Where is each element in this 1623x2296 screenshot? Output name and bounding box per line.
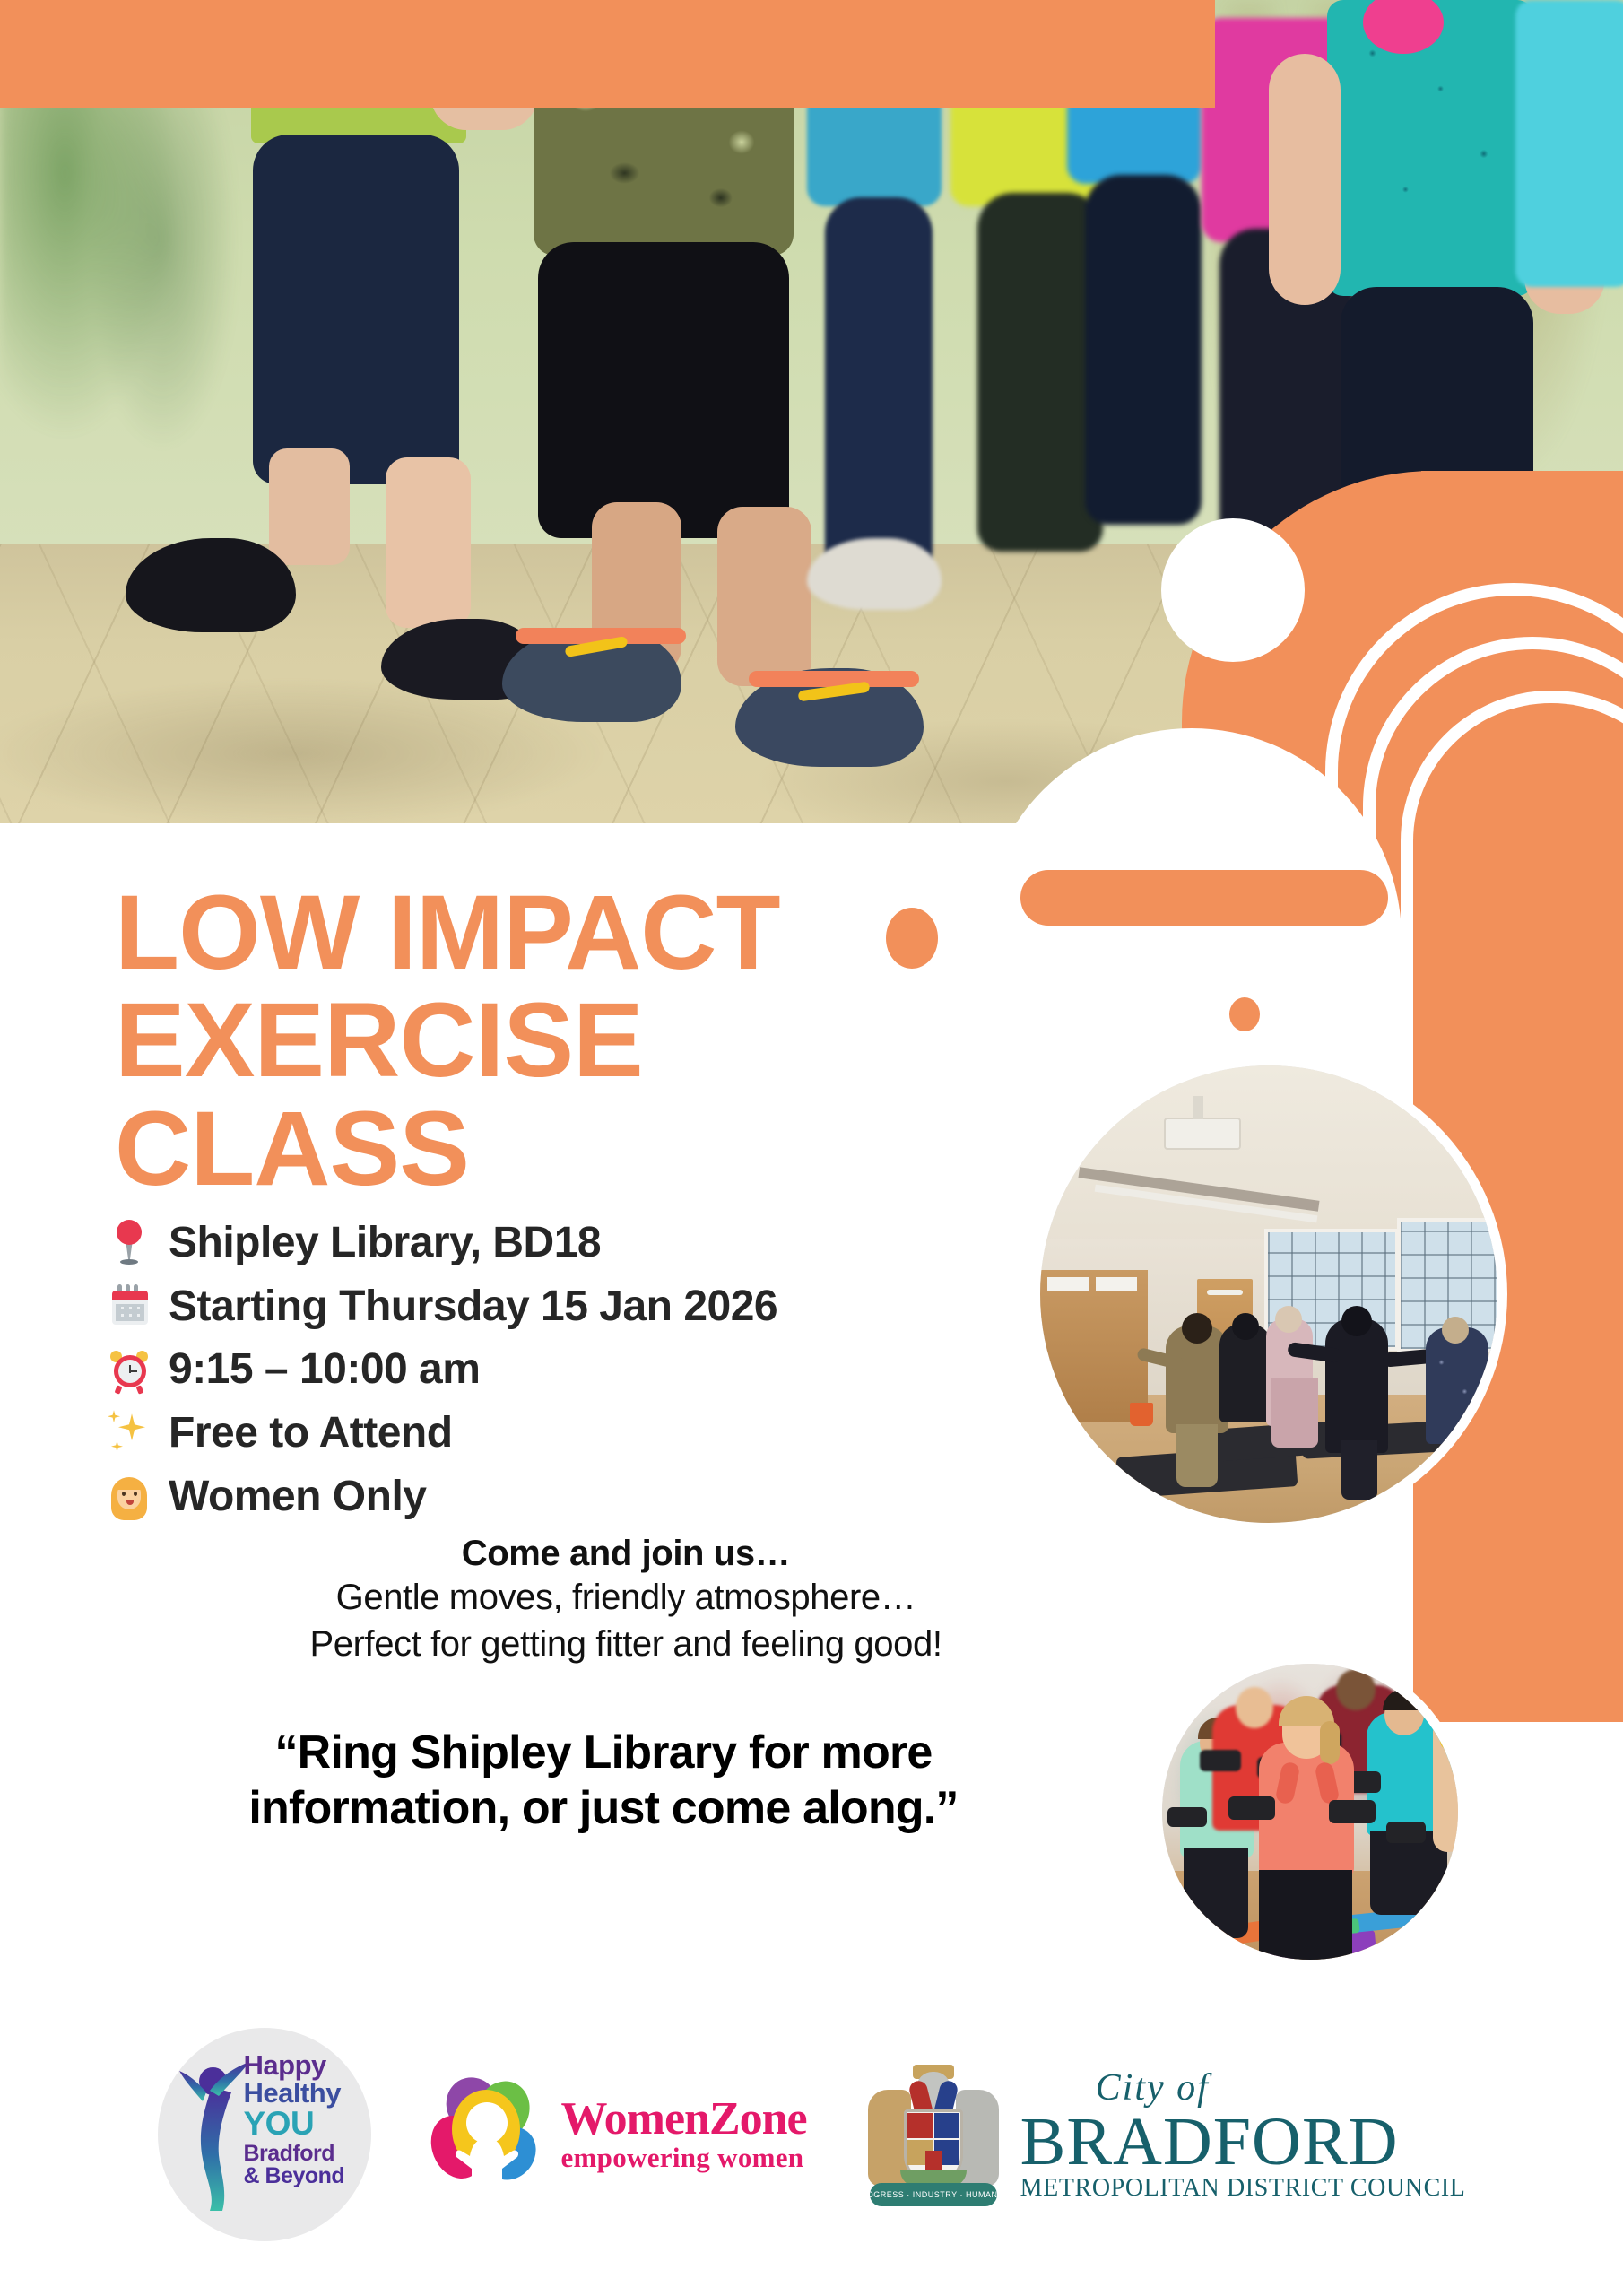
hhy-figure-icon xyxy=(179,2060,251,2213)
page-title: LOW IMPACT EXERCISE CLASS xyxy=(115,879,780,1203)
hero-photo xyxy=(0,0,1623,823)
orange-pill-shape xyxy=(1020,870,1388,926)
join-line-2: Perfect for getting fitter and feeling g… xyxy=(106,1621,1146,1667)
womenzone-mark-icon xyxy=(430,2075,549,2194)
hhy-line-5: & Beyond xyxy=(244,2165,369,2187)
calendar-icon xyxy=(106,1282,152,1332)
bradford-council-logo: PROGRESS · INDUSTRY · HUMANITY City of B… xyxy=(866,2057,1466,2212)
detail-row-location: Shipley Library, BD18 xyxy=(106,1218,1002,1269)
logo-strip: Happy Healthy YOU Bradford & Beyond xyxy=(0,2005,1623,2265)
bradford-name: BRADFORD xyxy=(1020,2109,1466,2174)
orange-dot-large xyxy=(886,908,938,969)
detail-text-date: Starting Thursday 15 Jan 2026 xyxy=(169,1282,777,1333)
detail-row-price: Free to Attend xyxy=(106,1408,1002,1459)
womenzone-tagline: empowering women xyxy=(561,2143,807,2173)
join-block: Come and join us… Gentle moves, friendly… xyxy=(106,1534,1146,1667)
hhy-line-4: Bradford xyxy=(244,2143,369,2165)
hhy-line-2: Healthy xyxy=(244,2079,369,2107)
woman-icon xyxy=(106,1472,152,1522)
sparkles-icon xyxy=(106,1408,152,1458)
detail-text-audience: Women Only xyxy=(169,1472,426,1523)
detail-text-location: Shipley Library, BD18 xyxy=(169,1218,601,1269)
womenzone-logo: WomenZone empowering women xyxy=(430,2075,807,2194)
callout-quote: “Ring Shipley Library for more informati… xyxy=(106,1725,1101,1837)
bradford-subtitle: METROPOLITAN DISTRICT COUNCIL xyxy=(1020,2174,1466,2203)
bradford-coat-of-arms-icon: PROGRESS · INDUSTRY · HUMANITY xyxy=(866,2057,1001,2212)
hhy-line-3: YOU xyxy=(244,2107,369,2140)
hhy-line-1: Happy xyxy=(244,2051,369,2079)
details-list: Shipley Library, BD18 Starting Thursday … xyxy=(106,1218,1002,1535)
detail-row-time: 9:15 – 10:00 am xyxy=(106,1344,1002,1396)
detail-text-price: Free to Attend xyxy=(169,1408,453,1459)
detail-text-time: 9:15 – 10:00 am xyxy=(169,1344,480,1396)
top-accent-bar xyxy=(0,0,1215,108)
library-class-photo xyxy=(1040,1065,1497,1523)
join-title: Come and join us… xyxy=(106,1534,1146,1574)
location-pin-icon xyxy=(106,1218,152,1268)
bradford-city-of: City of xyxy=(1096,2066,1466,2109)
detail-row-audience: Women Only xyxy=(106,1472,1002,1523)
gym-class-photo xyxy=(1162,1664,1458,1960)
bradford-motto: PROGRESS · INDUSTRY · HUMANITY xyxy=(855,2190,1011,2199)
orange-dot-small xyxy=(1229,997,1260,1031)
womenzone-name: WomenZone xyxy=(561,2096,807,2143)
happy-healthy-you-logo: Happy Healthy YOU Bradford & Beyond xyxy=(158,2028,371,2241)
alarm-clock-icon xyxy=(106,1345,152,1396)
detail-row-date: Starting Thursday 15 Jan 2026 xyxy=(106,1282,1002,1333)
poster-root: LOW IMPACT EXERCISE CLASS Shipley Librar… xyxy=(0,0,1623,2296)
join-line-1: Gentle moves, friendly atmosphere… xyxy=(106,1574,1146,1621)
